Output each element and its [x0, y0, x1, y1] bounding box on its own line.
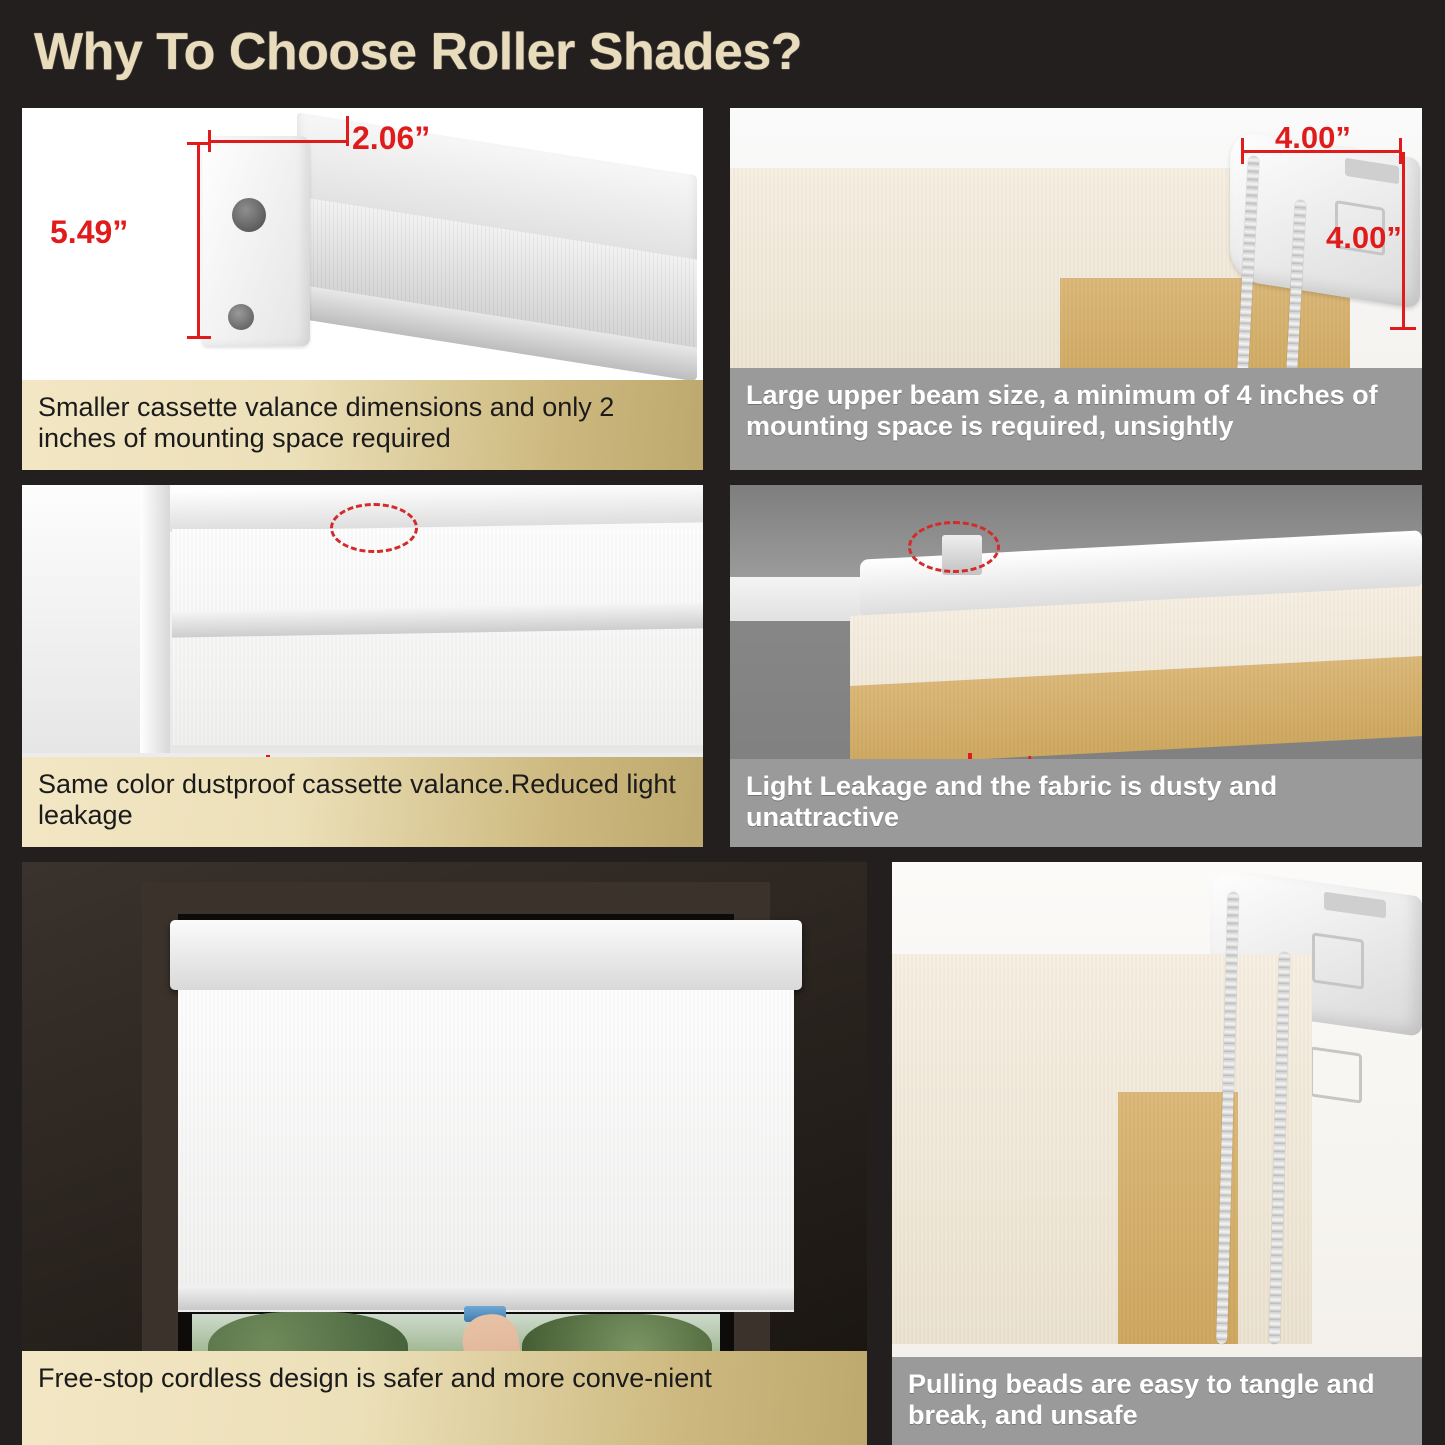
infographic-page: Why To Choose Roller Shades? 2.06”: [0, 0, 1445, 1445]
panel-top-right: 4.00” 4.00” Large upper beam size, a min…: [730, 108, 1422, 470]
beam-bracket-clip-2: [1310, 1046, 1362, 1103]
shade-fabric: [892, 954, 1312, 1344]
page-title: Why To Choose Roller Shades?: [34, 22, 802, 82]
panel-bottom-left-caption: Free-stop cordless design is safer and m…: [22, 1351, 867, 1445]
cassette-valance: [170, 920, 802, 990]
beam-depth-label: 4.00”: [1326, 220, 1402, 256]
frame-left-jamb: [140, 485, 170, 753]
width-dimension-label: 2.06”: [352, 120, 430, 157]
beam-width-tick-left: [1241, 138, 1244, 164]
panel-middle-left-caption: Same color dustproof cassette valance.Re…: [22, 757, 703, 847]
beam-bracket-clip: [1312, 932, 1364, 989]
panel-top-left-caption: Smaller cassette valance dimensions and …: [22, 380, 703, 470]
end-cap-screw: [228, 304, 254, 330]
panel-top-right-caption: Large upper beam size, a minimum of 4 in…: [730, 368, 1422, 470]
width-dim-tick-left: [208, 130, 211, 152]
height-dim-tick-top: [187, 142, 211, 145]
panel-bottom-right: Pulling beads are easy to tangle and bre…: [892, 862, 1422, 1445]
beam-depth-tick-bottom: [1390, 327, 1416, 330]
gap-highlight-ellipse: [330, 503, 418, 553]
height-dim-line: [197, 142, 200, 338]
shade-fabric: [172, 529, 703, 745]
panel-top-left: 2.06” 5.49” Smaller cassette valance dim…: [22, 108, 703, 470]
gap-highlight-ellipse: [908, 521, 1000, 573]
width-dim-line: [209, 140, 349, 143]
height-dimension-label: 5.49”: [50, 214, 128, 251]
panel-bottom-right-caption: Pulling beads are easy to tangle and bre…: [892, 1357, 1422, 1445]
width-dim-tick-right: [346, 116, 349, 146]
panel-bottom-left: Free-stop cordless design is safer and m…: [22, 862, 867, 1445]
end-cap-hole: [232, 198, 266, 232]
valance-end-cap: [202, 136, 310, 346]
beam-width-label: 4.00”: [1275, 120, 1351, 156]
panel-middle-right: Large gap Light Leakage and the fabric i…: [730, 485, 1422, 847]
height-dim-tick-bottom: [187, 336, 211, 339]
panel-middle-right-caption: Light Leakage and the fabric is dusty an…: [730, 759, 1422, 847]
beam-depth-dim-line: [1402, 152, 1405, 330]
shade-fabric: [178, 990, 794, 1312]
panel-middle-left: smaller gap Same color dustproof cassett…: [22, 485, 703, 847]
